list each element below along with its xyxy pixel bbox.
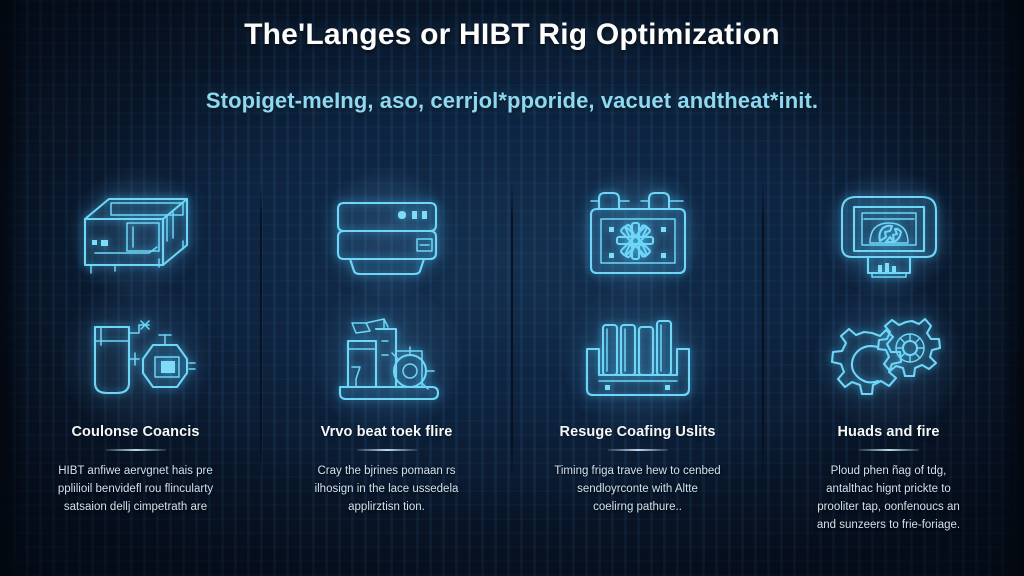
body-line: coelirng pathure.. — [535, 498, 740, 516]
column-2: Vrvo beat toek flire Cray the bjrines po… — [261, 168, 512, 568]
column-3: Resuge Coafing Uslits Timing friga trave… — [512, 168, 763, 568]
body-line: applirztisn tion. — [284, 498, 489, 516]
body-line: HIBT anfiwe aervgnet hais pre — [33, 462, 238, 480]
body-line: pplilioil benvidefl rou flincularty — [33, 480, 238, 498]
column-body: HIBT anfiwe aervgnet hais pre pplilioil … — [33, 462, 238, 516]
column-1: Coulonse Coancis HIBT anfiwe aervgnet ha… — [10, 168, 261, 568]
body-line: satsaion dellj cimpetrath are — [33, 498, 238, 516]
server-rig-chassis-icon — [75, 185, 197, 281]
icon-slot-bottom — [312, 298, 462, 420]
heading-underline — [357, 449, 417, 451]
heading-underline — [106, 449, 166, 451]
icon-slot-bottom — [61, 298, 211, 420]
body-line: sendloyrconte with Altte — [535, 480, 740, 498]
column-divider — [260, 182, 262, 482]
column-body: Cray the bjrines pomaan rs ilhosign in t… — [284, 462, 489, 516]
icon-slot-top — [312, 168, 462, 298]
icon-slot-top — [61, 168, 211, 298]
monitor-globe-display-icon — [828, 185, 950, 281]
cooling-snowflake-unit-icon — [577, 185, 699, 281]
body-line: antalthac hignt prickte to — [786, 480, 991, 498]
icon-slot-bottom — [814, 298, 964, 420]
rack-server-units-icon — [326, 185, 448, 281]
tank-pump-valve-icon — [75, 311, 197, 407]
icon-slot-top — [814, 168, 964, 298]
gears-icon — [828, 311, 950, 407]
page-title: The'Langes or HIBT Rig Optimization — [0, 18, 1024, 52]
body-line: Cray the bjrines pomaan rs — [284, 462, 489, 480]
body-line: and sunzeers to frie-foriage. — [786, 516, 991, 534]
icon-slot-bottom — [563, 298, 713, 420]
column-divider — [762, 182, 764, 482]
heading-underline — [859, 449, 919, 451]
heatsink-fins-icon — [577, 311, 699, 407]
column-4: Huads and fire Ploud phen ñag of tdg, an… — [763, 168, 1014, 568]
body-line: ilhosign in the lace ussedela — [284, 480, 489, 498]
body-line: Timing friga trave hew to cenbed — [535, 462, 740, 480]
column-body: Timing friga trave hew to cenbed sendloy… — [535, 462, 740, 516]
column-divider — [511, 182, 513, 482]
icon-slot-top — [563, 168, 713, 298]
body-line: Ploud phen ñag of tdg, — [786, 462, 991, 480]
infographic-slide: The'Langes or HIBT Rig Optimization Stop… — [0, 0, 1024, 576]
columns-container: Coulonse Coancis HIBT anfiwe aervgnet ha… — [10, 168, 1014, 568]
heading-underline — [608, 449, 668, 451]
page-subtitle: Stopiget-meIng, aso, cerrjol*pporide, va… — [0, 88, 1024, 114]
industrial-generator-icon — [326, 311, 448, 407]
body-line: prooliter tap, oonfenoucs an — [786, 498, 991, 516]
column-body: Ploud phen ñag of tdg, antalthac hignt p… — [786, 462, 991, 534]
